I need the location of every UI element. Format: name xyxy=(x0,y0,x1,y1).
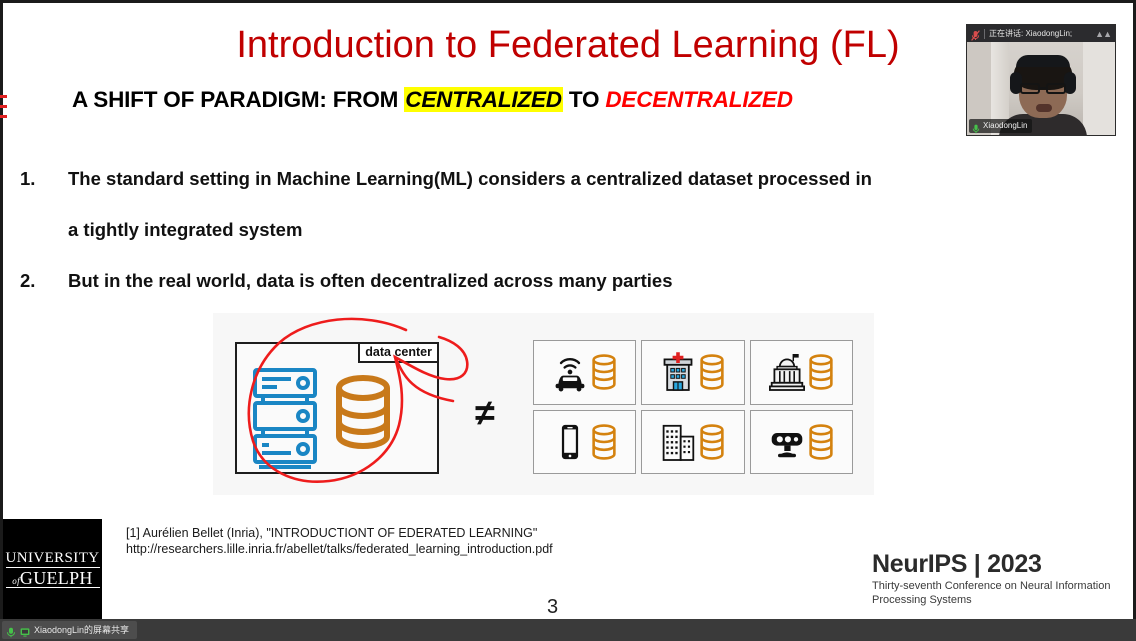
camera-sensor-icon xyxy=(769,422,805,462)
titlebar-divider xyxy=(984,29,985,39)
screen-share-view: Introduction to Federated Learning (FL) … xyxy=(0,0,1136,641)
guelph-of: of xyxy=(12,576,20,586)
neurips-logo: NeurIPS | 2023 Thirty-seventh Conference… xyxy=(872,550,1112,607)
speaking-status-label: 正在讲话: XiaodongLin; xyxy=(989,29,1072,39)
bullet-list: 1. The standard setting in Machine Learn… xyxy=(20,153,1110,307)
database-cylinder-icon xyxy=(335,374,391,459)
database-cylinder-icon xyxy=(591,423,617,461)
participant-name: XiaodongLin xyxy=(983,121,1027,131)
video-feed[interactable]: XiaodongLin xyxy=(967,42,1115,135)
meeting-taskbar: XiaodongLin的屏幕共享 xyxy=(0,619,1136,641)
data-center-label: data center xyxy=(358,342,439,363)
list-item: 2. But in the real world, data is often … xyxy=(20,255,1110,307)
database-cylinder-icon xyxy=(808,423,834,461)
mic-on-icon[interactable] xyxy=(6,625,16,636)
list-item: 1. The standard setting in Machine Learn… xyxy=(20,153,1110,205)
smartphone-icon xyxy=(552,422,588,462)
hospital-icon xyxy=(660,352,696,392)
page-title: Introduction to Federated Learning (FL) xyxy=(0,22,1136,68)
guelph-line-2: ofGUELPH xyxy=(6,569,100,588)
screen-share-icon[interactable] xyxy=(20,625,30,636)
video-bg-right xyxy=(1083,42,1115,135)
party-cell-smartphone xyxy=(533,410,636,475)
screen-share-status-chip[interactable]: XiaodongLin的屏幕共享 xyxy=(2,621,137,639)
presenter-mouth xyxy=(1036,104,1052,112)
bullet-number: 2. xyxy=(20,255,68,307)
server-stack-icon xyxy=(251,368,321,470)
guelph-word: GUELPH xyxy=(20,568,93,588)
slide-subtitle: A SHIFT OF PARADIGM: FROM CENTRALIZED TO… xyxy=(72,85,793,115)
database-cylinder-icon xyxy=(808,353,834,391)
database-cylinder-icon xyxy=(699,353,725,391)
bullet-text: a tightly integrated system xyxy=(68,205,1110,255)
red-edge-marks xyxy=(0,92,7,122)
party-cell-hospital xyxy=(641,340,744,405)
neurips-subtitle: Thirty-seventh Conference on Neural Info… xyxy=(872,580,1112,607)
connected-car-icon xyxy=(552,352,588,392)
subtitle-highlight-centralized: CENTRALIZED xyxy=(404,87,563,112)
federated-learning-diagram: data center xyxy=(213,313,874,495)
subtitle-decentralized: DECENTRALIZED xyxy=(605,87,792,112)
guelph-line-1: UNIVERSITY xyxy=(6,551,100,568)
bullet-number: 1. xyxy=(20,153,68,205)
bullet-text: But in the real world, data is often dec… xyxy=(68,255,1110,307)
subtitle-prefix: A SHIFT OF PARADIGM: FROM xyxy=(72,87,404,112)
participant-name-badge: XiaodongLin xyxy=(969,119,1032,133)
mic-on-icon xyxy=(972,121,980,131)
party-cell-connected-car xyxy=(533,340,636,405)
headset-band xyxy=(1016,55,1070,67)
citation-block: [1] Aurélien Bellet (Inria), "INTRODUCTI… xyxy=(126,525,553,557)
subtitle-mid: TO xyxy=(563,87,606,112)
mic-muted-icon[interactable] xyxy=(971,28,980,39)
party-cell-camera-sensor xyxy=(750,410,853,475)
bullet-text: The standard setting in Machine Learning… xyxy=(68,153,1110,205)
list-item: a tightly integrated system xyxy=(20,205,1110,255)
database-cylinder-icon xyxy=(591,353,617,391)
decentralized-parties-grid xyxy=(533,340,853,474)
screen-share-label: XiaodongLin的屏幕共享 xyxy=(34,625,129,636)
university-of-guelph-logo: UNIVERSITY ofGUELPH xyxy=(3,519,102,619)
data-center-box: data center xyxy=(235,342,439,474)
neurips-title: NeurIPS | 2023 xyxy=(872,550,1112,578)
presenter-glasses xyxy=(1019,82,1067,95)
not-equal-symbol: ≠ xyxy=(475,395,495,431)
video-overlay-titlebar[interactable]: 正在讲话: XiaodongLin; ▲▲ xyxy=(967,25,1115,42)
citation-line-2: http://researchers.lille.inria.fr/abelle… xyxy=(126,541,553,557)
office-buildings-icon xyxy=(660,422,696,462)
government-building-icon xyxy=(769,352,805,392)
citation-line-1: [1] Aurélien Bellet (Inria), "INTRODUCTI… xyxy=(126,525,553,541)
party-cell-offices xyxy=(641,410,744,475)
video-thumbnail-overlay[interactable]: 正在讲话: XiaodongLin; ▲▲ xyxy=(967,25,1115,135)
chevron-double-icon[interactable]: ▲▲ xyxy=(1095,29,1111,39)
database-cylinder-icon xyxy=(699,423,725,461)
party-cell-government xyxy=(750,340,853,405)
